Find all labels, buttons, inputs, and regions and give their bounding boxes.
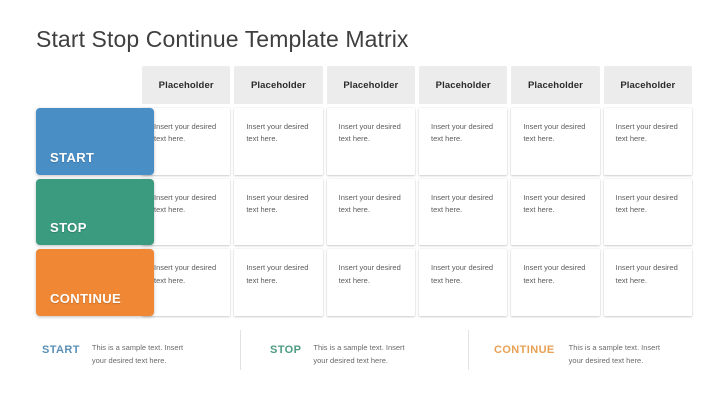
matrix-cell-text: Insert your desired text here. — [523, 192, 595, 217]
matrix-cell-text: Insert your desired text here. — [154, 121, 226, 146]
legend-text-continue: This is a sample text. Insert your desir… — [569, 342, 673, 368]
matrix-cell-text: Insert your desired text here. — [246, 262, 318, 287]
matrix-cell-text: Insert your desired text here. — [339, 121, 411, 146]
matrix-cell[interactable]: Insert your desired text here. — [327, 108, 415, 175]
legend-item-continue[interactable]: CONTINUE This is a sample text. Insert y… — [468, 336, 692, 382]
matrix-cell[interactable]: Insert your desired text here. — [234, 108, 322, 175]
column-header-2[interactable]: Placeholder — [234, 66, 322, 104]
matrix-cell-text: Insert your desired text here. — [431, 262, 503, 287]
column-header-1[interactable]: Placeholder — [142, 66, 230, 104]
table-row: CONTINUE Insert your desired text here. … — [36, 249, 692, 316]
row-label-stop[interactable]: STOP — [36, 179, 154, 246]
matrix-cell[interactable]: Insert your desired text here. — [234, 179, 322, 246]
row-label-start[interactable]: START — [36, 108, 154, 175]
column-header-label: Placeholder — [620, 80, 675, 91]
column-header-3[interactable]: Placeholder — [327, 66, 415, 104]
matrix-cell[interactable]: Insert your desired text here. — [511, 108, 599, 175]
matrix-cell[interactable]: Insert your desired text here. — [327, 179, 415, 246]
table-row: START Insert your desired text here. Ins… — [36, 108, 692, 175]
row-label-text: START — [36, 150, 94, 175]
legend-item-stop[interactable]: STOP This is a sample text. Insert your … — [240, 336, 468, 382]
matrix-cell-text: Insert your desired text here. — [616, 121, 688, 146]
matrix-cell[interactable]: Insert your desired text here. — [511, 179, 599, 246]
legend-text-stop: This is a sample text. Insert your desir… — [313, 342, 417, 368]
row-cells-continue: Insert your desired text here. Insert yo… — [142, 249, 692, 316]
column-header-label: Placeholder — [343, 80, 398, 91]
matrix-table: Placeholder Placeholder Placeholder Plac… — [36, 66, 692, 316]
matrix-cell-text: Insert your desired text here. — [616, 262, 688, 287]
legend-label-start: START — [42, 342, 80, 356]
column-header-label: Placeholder — [436, 80, 491, 91]
row-label-text: CONTINUE — [36, 291, 121, 316]
matrix-cell[interactable]: Insert your desired text here. — [142, 108, 230, 175]
table-row: STOP Insert your desired text here. Inse… — [36, 179, 692, 246]
matrix-body: START Insert your desired text here. Ins… — [36, 108, 692, 316]
matrix-cell-text: Insert your desired text here. — [523, 121, 595, 146]
matrix-cell[interactable]: Insert your desired text here. — [419, 179, 507, 246]
matrix-cell-text: Insert your desired text here. — [339, 262, 411, 287]
page-title: Start Stop Continue Template Matrix — [36, 26, 409, 53]
legend-item-start[interactable]: START This is a sample text. Insert your… — [36, 336, 240, 382]
row-label-continue[interactable]: CONTINUE — [36, 249, 154, 316]
matrix-cell-text: Insert your desired text here. — [154, 262, 226, 287]
matrix-cell[interactable]: Insert your desired text here. — [142, 249, 230, 316]
legend-text-start: This is a sample text. Insert your desir… — [92, 342, 196, 368]
matrix-cell[interactable]: Insert your desired text here. — [142, 179, 230, 246]
column-header-4[interactable]: Placeholder — [419, 66, 507, 104]
legend-label-stop: STOP — [270, 342, 301, 356]
row-cells-start: Insert your desired text here. Insert yo… — [142, 108, 692, 175]
matrix-cell[interactable]: Insert your desired text here. — [604, 249, 692, 316]
column-header-6[interactable]: Placeholder — [604, 66, 692, 104]
column-header-label: Placeholder — [159, 80, 214, 91]
matrix-cell-text: Insert your desired text here. — [616, 192, 688, 217]
matrix-cell-text: Insert your desired text here. — [523, 262, 595, 287]
matrix-cell[interactable]: Insert your desired text here. — [327, 249, 415, 316]
matrix-cell[interactable]: Insert your desired text here. — [604, 179, 692, 246]
row-label-text: STOP — [36, 220, 87, 245]
legend-label-continue: CONTINUE — [494, 342, 555, 356]
column-header-5[interactable]: Placeholder — [511, 66, 599, 104]
legend: START This is a sample text. Insert your… — [36, 336, 692, 382]
matrix-cell[interactable]: Insert your desired text here. — [234, 249, 322, 316]
column-header-label: Placeholder — [251, 80, 306, 91]
matrix-cell[interactable]: Insert your desired text here. — [419, 108, 507, 175]
matrix-cell-text: Insert your desired text here. — [246, 192, 318, 217]
matrix-cell[interactable]: Insert your desired text here. — [419, 249, 507, 316]
matrix-header-row: Placeholder Placeholder Placeholder Plac… — [142, 66, 692, 104]
matrix-cell-text: Insert your desired text here. — [431, 192, 503, 217]
matrix-cell-text: Insert your desired text here. — [154, 192, 226, 217]
matrix-cell[interactable]: Insert your desired text here. — [604, 108, 692, 175]
matrix-cell-text: Insert your desired text here. — [431, 121, 503, 146]
row-cells-stop: Insert your desired text here. Insert yo… — [142, 179, 692, 246]
matrix-cell[interactable]: Insert your desired text here. — [511, 249, 599, 316]
matrix-cell-text: Insert your desired text here. — [339, 192, 411, 217]
matrix-cell-text: Insert your desired text here. — [246, 121, 318, 146]
column-header-label: Placeholder — [528, 80, 583, 91]
